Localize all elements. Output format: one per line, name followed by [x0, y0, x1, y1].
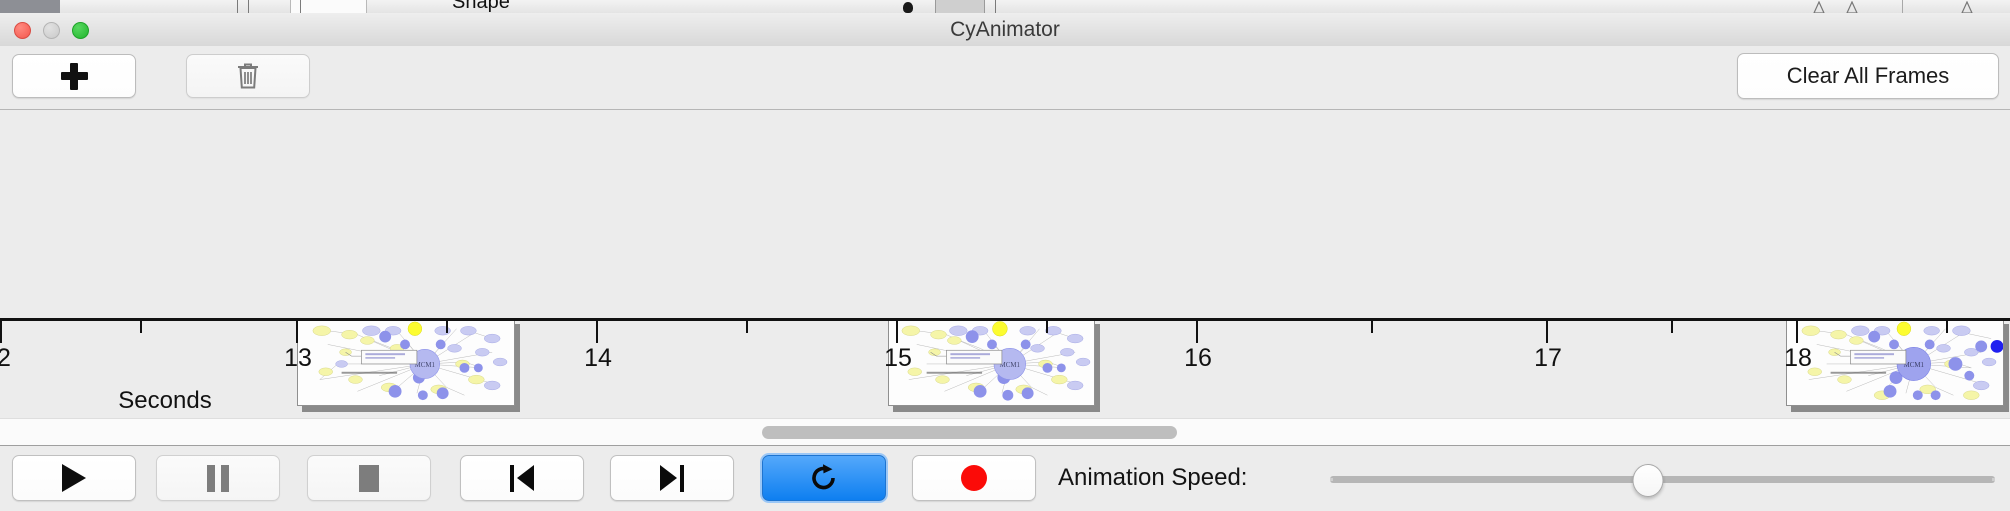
axis-tick-label: 14 [584, 344, 612, 373]
background-glyph [903, 2, 913, 13]
slider-knob[interactable] [1633, 464, 1664, 497]
record-button[interactable] [912, 455, 1036, 501]
axis-tick-label: 15 [884, 344, 912, 373]
network-graph-preview: MCM1 [1787, 319, 2003, 405]
plus-icon [61, 63, 88, 90]
background-divider [300, 0, 301, 13]
timeline-scrollbar[interactable] [0, 418, 2010, 447]
delete-frame-button[interactable] [186, 54, 310, 98]
loop-button[interactable] [762, 455, 886, 501]
frame-toolbar: Clear All Frames [0, 46, 2010, 110]
background-window-strip: Shape [0, 0, 2010, 13]
axis-tick-label: 2 [0, 344, 11, 373]
background-block [935, 0, 985, 13]
axis-tick-minor [1371, 321, 1373, 333]
record-icon [961, 465, 987, 491]
pause-icon [207, 465, 229, 492]
loop-icon [809, 463, 839, 493]
animation-speed-slider[interactable] [1330, 455, 1995, 501]
svg-text:MCM1: MCM1 [1904, 362, 1925, 369]
svg-text:MCM1: MCM1 [1000, 362, 1021, 369]
axis-tick-label: 13 [284, 344, 312, 373]
frame-thumbnail-3[interactable]: MCM1 [1786, 318, 2004, 406]
axis-tick-label: 18 [1784, 344, 1812, 373]
background-tab [290, 0, 367, 13]
play-button[interactable] [12, 455, 136, 501]
axis-tick-minor [140, 321, 142, 333]
play-icon [62, 464, 86, 492]
axis-tick-major [1196, 321, 1198, 343]
clear-all-frames-label: Clear All Frames [1787, 63, 1950, 89]
axis-tick-minor [1046, 321, 1048, 333]
axis-tick-label: 17 [1534, 344, 1562, 373]
next-frame-button[interactable] [610, 455, 734, 501]
stop-button[interactable] [307, 455, 431, 501]
background-chevron-icon [1845, 1, 1859, 13]
stop-icon [359, 465, 379, 492]
add-frame-button[interactable] [12, 54, 136, 98]
cyanimator-window: Shape CyAnimator Clear [0, 0, 2010, 510]
title-bar[interactable]: CyAnimator [0, 13, 2010, 47]
pause-button[interactable] [156, 455, 280, 501]
clear-all-frames-button[interactable]: Clear All Frames [1737, 53, 1999, 99]
axis-tick-major [296, 321, 298, 343]
axis-tick-major [1796, 321, 1798, 343]
axis-tick-major [1546, 321, 1548, 343]
axis-tick-label: 16 [1184, 344, 1212, 373]
axis-tick-minor [1946, 321, 1948, 333]
skip-forward-icon [660, 465, 684, 492]
background-divider [1902, 0, 1903, 13]
background-divider [248, 0, 249, 13]
skip-back-icon [510, 465, 534, 492]
animation-speed-label: Animation Speed: [1058, 455, 1247, 501]
axis-title-seconds: Seconds [0, 387, 1170, 415]
background-window-text: Shape [452, 0, 510, 13]
axis-tick-minor [746, 321, 748, 333]
previous-frame-button[interactable] [460, 455, 584, 501]
axis-tick-minor [446, 321, 448, 333]
background-divider [995, 0, 996, 13]
timeline-axis [0, 318, 2010, 321]
trash-icon [236, 62, 260, 90]
svg-text:MCM1: MCM1 [415, 362, 436, 369]
background-chevron-icon [1960, 1, 1974, 13]
axis-tick-minor [1671, 321, 1673, 333]
background-divider [237, 0, 238, 13]
thumbnail-card: MCM1 [1786, 318, 2004, 406]
axis-tick-major [596, 321, 598, 343]
background-tab-selected [0, 0, 60, 13]
scrollbar-thumb[interactable] [762, 426, 1177, 439]
axis-tick-major [896, 321, 898, 343]
playback-control-bar: Animation Speed: [0, 445, 2010, 511]
window-title: CyAnimator [0, 13, 2010, 46]
timeline-panel[interactable]: MCM1 [0, 110, 2010, 418]
background-chevron-icon [1812, 1, 1826, 13]
axis-tick-major [0, 321, 2, 343]
